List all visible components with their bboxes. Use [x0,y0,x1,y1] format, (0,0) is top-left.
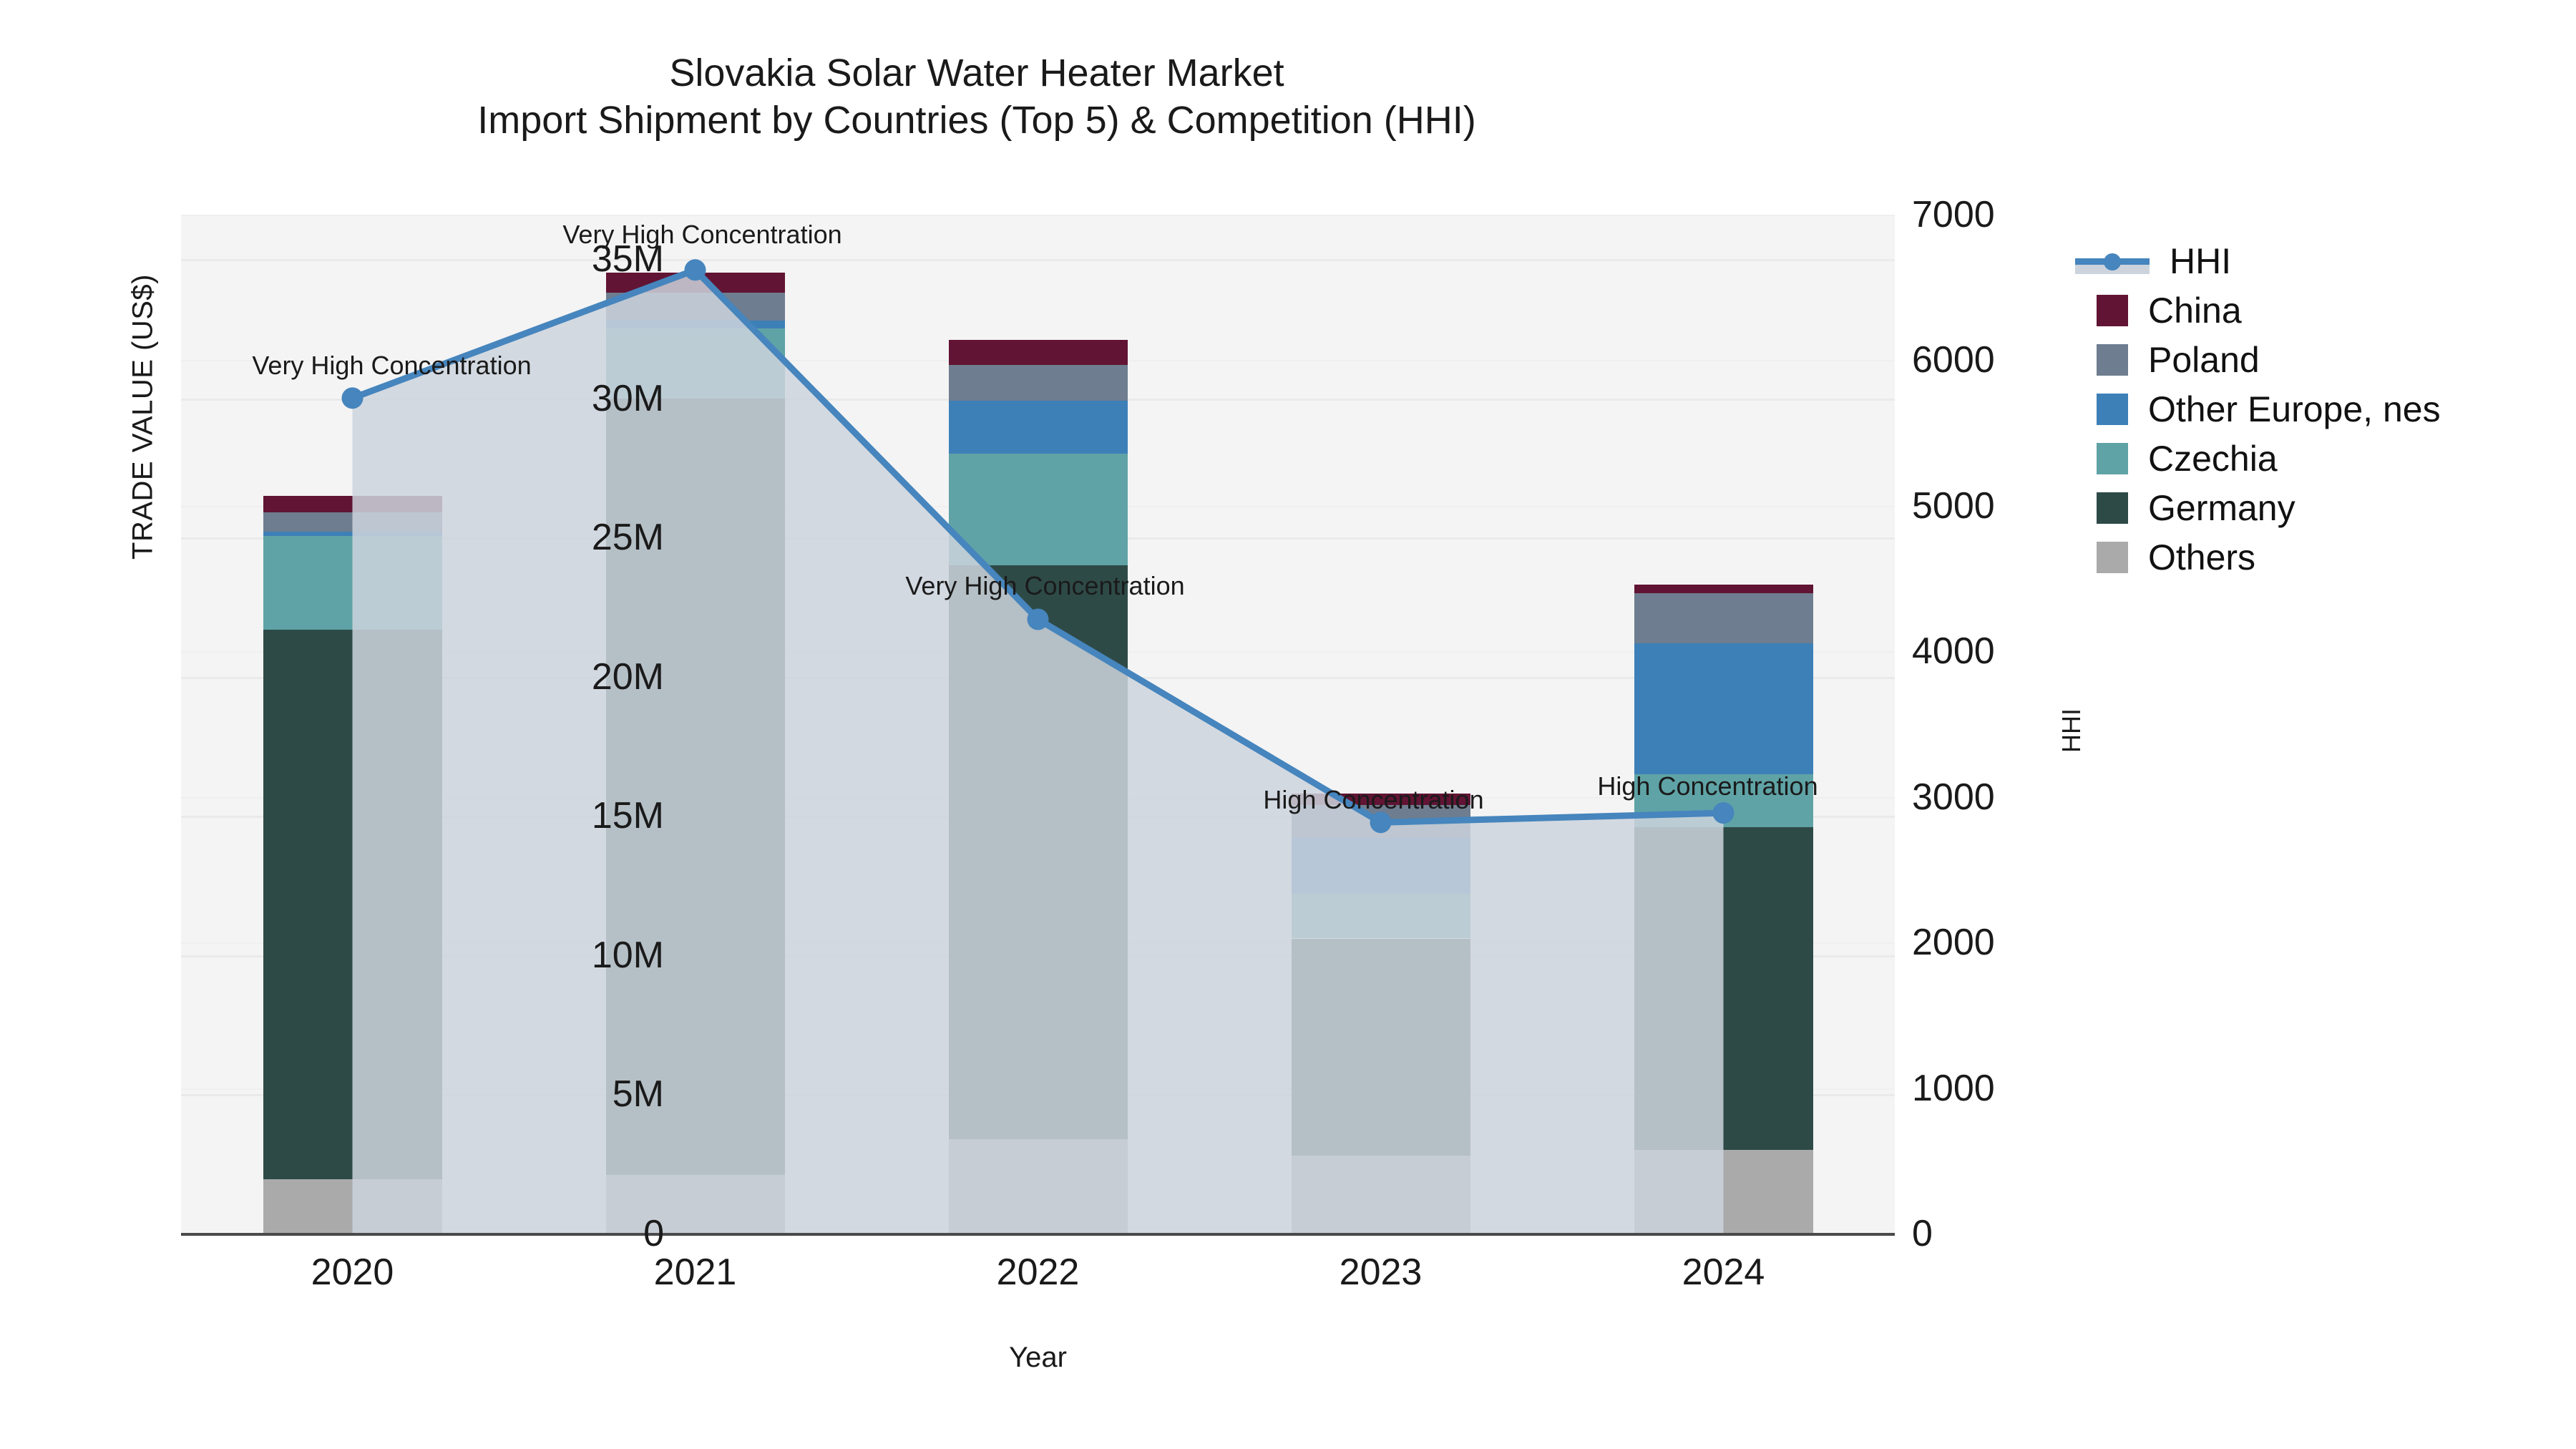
legend-item-others[interactable]: Others [2075,532,2441,582]
legend-label: Other Europe, nes [2148,391,2441,427]
legend-label: Czechia [2148,441,2278,477]
x-tick-2020[interactable]: 2020 [231,1251,474,1294]
legend-item-china[interactable]: China [2075,286,2441,335]
x-tick-2022[interactable]: 2022 [917,1251,1160,1294]
square-swatch-icon [2097,443,2128,474]
legend-label: Poland [2148,342,2260,378]
legend-item-czechia[interactable]: Czechia [2075,434,2441,483]
square-swatch-icon [2097,295,2128,326]
square-swatch-icon [2097,542,2128,573]
chart-root: Slovakia Solar Water Heater Market Impor… [0,0,2576,1449]
legend-item-poland[interactable]: Poland [2075,335,2441,384]
x-tick-2024[interactable]: 2024 [1602,1251,1845,1294]
y-axis-right-label: HHI [2057,623,2087,838]
x-tick-2021[interactable]: 2021 [574,1251,817,1294]
y-axis-left-label: TRADE VALUE (US$) [127,188,160,646]
legend-label: Germany [2148,490,2296,526]
legend-item-germany[interactable]: Germany [2075,483,2441,532]
legend-label: Others [2148,540,2255,575]
legend: HHIChinaPolandOther Europe, nesCzechiaGe… [2075,236,2441,582]
legend-item-hhi[interactable]: HHI [2075,236,2441,286]
legend-label: China [2148,293,2242,328]
x-tick-2023[interactable]: 2023 [1259,1251,1503,1294]
square-swatch-icon [2097,344,2128,376]
x-axis-ticks: 20202021202220232024 [0,0,2576,1449]
legend-item-other-europe-nes[interactable]: Other Europe, nes [2075,384,2441,434]
x-axis-label: Year [181,1342,1895,1374]
square-swatch-icon [2097,492,2128,524]
line-marker-icon [2075,245,2150,277]
legend-label: HHI [2170,243,2231,279]
square-swatch-icon [2097,394,2128,425]
